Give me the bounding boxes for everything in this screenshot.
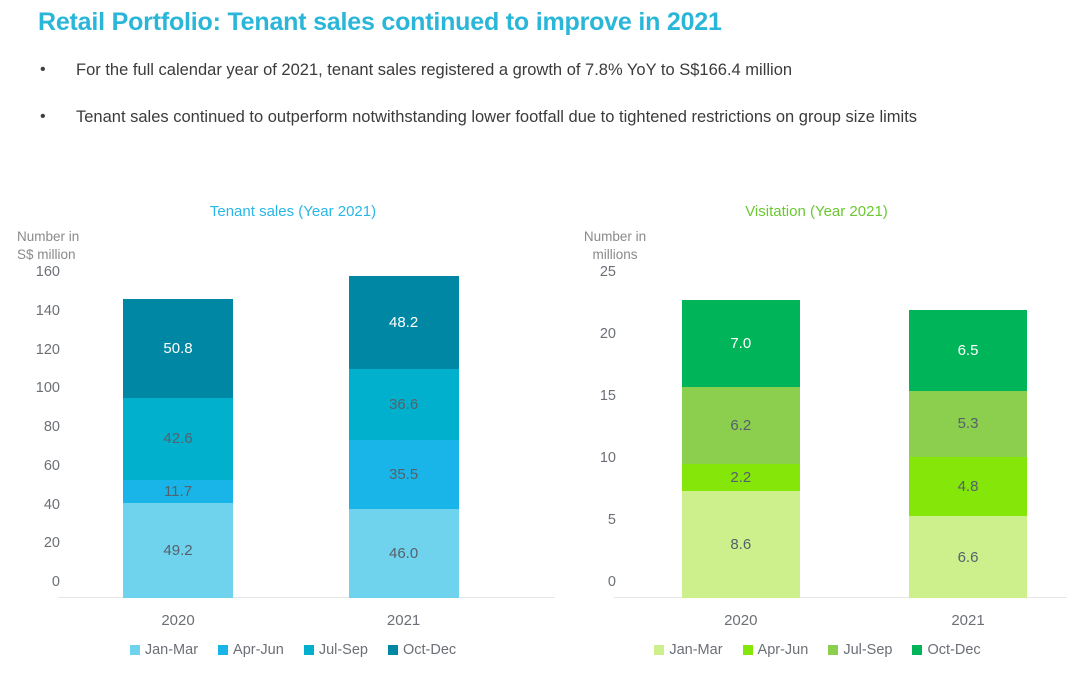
bar-value-label: 11.7 [164, 483, 192, 500]
bar-value-label: 6.6 [958, 549, 979, 566]
y-axis-tick-label: 20 [44, 535, 60, 551]
bar-value-label: 36.6 [389, 396, 418, 413]
x-axis-tick-label: 2021 [909, 612, 1027, 629]
y-axis-tick-label: 15 [600, 388, 616, 404]
bar-segment-jan-mar[interactable]: 46.0 [349, 509, 459, 598]
bar-segment-oct-dec[interactable]: 48.2 [349, 276, 459, 369]
y-axis-caption: Number in S$ million [17, 228, 79, 264]
y-axis-tick-label: 0 [52, 574, 60, 590]
bar-value-label: 4.8 [958, 478, 979, 495]
bar-segment-jan-mar[interactable]: 6.6 [909, 516, 1027, 598]
bar-value-label: 46.0 [389, 545, 418, 562]
legend-swatch-icon [304, 645, 314, 655]
bar-segment-jul-sep[interactable]: 36.6 [349, 369, 459, 440]
legend-swatch-icon [130, 645, 140, 655]
plot-area: 16014012010080604020049.211.742.650.8202… [70, 288, 550, 598]
y-axis-caption-line2: S$ million [17, 246, 79, 264]
bar-segment-apr-jun[interactable]: 11.7 [123, 480, 233, 503]
bar-value-label: 7.0 [730, 335, 751, 352]
y-axis-tick-label: 0 [608, 574, 616, 590]
bar-segment-apr-jun[interactable]: 35.5 [349, 440, 459, 509]
x-axis-tick-label: 2021 [349, 612, 459, 629]
plot-area: 25201510508.62.26.27.020206.64.85.36.520… [626, 288, 1067, 598]
legend-label: Jul-Sep [843, 642, 892, 658]
chart-title: Visitation (Year 2021) [556, 203, 1067, 220]
y-axis-tick-label: 120 [36, 342, 60, 358]
y-axis-tick-label: 40 [44, 497, 60, 513]
bar-group-2020[interactable]: 49.211.742.650.82020 [123, 299, 233, 598]
bullet-marker-icon: • [38, 105, 76, 129]
legend-label: Apr-Jun [758, 642, 809, 658]
legend-item-jan-mar[interactable]: Jan-Mar [130, 642, 198, 658]
bar-value-label: 2.2 [730, 469, 751, 486]
bar-group-2021[interactable]: 6.64.85.36.52021 [909, 310, 1027, 598]
y-axis-tick-label: 100 [36, 380, 60, 396]
bar-value-label: 6.5 [958, 342, 979, 359]
y-axis-tick-label: 20 [600, 326, 616, 342]
bullet-marker-icon: • [38, 58, 76, 82]
bar-segment-jul-sep[interactable]: 6.2 [682, 387, 800, 464]
y-axis-caption-line1: Number in [17, 228, 79, 246]
legend-item-jan-mar[interactable]: Jan-Mar [654, 642, 722, 658]
page-title: Retail Portfolio: Tenant sales continued… [38, 8, 722, 37]
chart-legend: Jan-MarApr-JunJul-SepOct-Dec [0, 642, 556, 658]
legend-label: Apr-Jun [233, 642, 284, 658]
bar-segment-oct-dec[interactable]: 6.5 [909, 310, 1027, 391]
bar-value-label: 5.3 [958, 415, 979, 432]
bar-value-label: 49.2 [163, 542, 192, 559]
legend-label: Oct-Dec [927, 642, 980, 658]
bar-value-label: 48.2 [389, 314, 418, 331]
y-axis-tick-label: 60 [44, 458, 60, 474]
x-axis-tick-label: 2020 [123, 612, 233, 629]
legend-swatch-icon [388, 645, 398, 655]
bar-value-label: 35.5 [389, 466, 418, 483]
legend-item-jul-sep[interactable]: Jul-Sep [828, 642, 892, 658]
y-axis-tick-label: 160 [36, 264, 60, 280]
bar-segment-jul-sep[interactable]: 5.3 [909, 391, 1027, 457]
legend-item-oct-dec[interactable]: Oct-Dec [388, 642, 456, 658]
bar-segment-apr-jun[interactable]: 4.8 [909, 457, 1027, 517]
legend-swatch-icon [218, 645, 228, 655]
legend-item-jul-sep[interactable]: Jul-Sep [304, 642, 368, 658]
charts-container: Tenant sales (Year 2021) Number in S$ mi… [0, 195, 1067, 675]
chart-title: Tenant sales (Year 2021) [0, 203, 556, 220]
bar-value-label: 6.2 [730, 417, 751, 434]
bar-group-2021[interactable]: 46.035.536.648.22021 [349, 276, 459, 598]
legend-label: Jan-Mar [145, 642, 198, 658]
y-axis-tick-label: 5 [608, 512, 616, 528]
bar-segment-jan-mar[interactable]: 49.2 [123, 503, 233, 598]
bullet-text: For the full calendar year of 2021, tena… [76, 58, 792, 83]
y-axis-caption-line1: Number in [570, 228, 660, 246]
y-axis-tick-label: 140 [36, 303, 60, 319]
bar-segment-oct-dec[interactable]: 7.0 [682, 300, 800, 387]
legend-swatch-icon [743, 645, 753, 655]
legend-swatch-icon [828, 645, 838, 655]
bar-value-label: 42.6 [163, 430, 192, 447]
bullet-list: • For the full calendar year of 2021, te… [38, 58, 1038, 152]
y-axis-caption-line2: millions [570, 246, 660, 264]
bar-value-label: 50.8 [163, 340, 192, 357]
legend-item-oct-dec[interactable]: Oct-Dec [912, 642, 980, 658]
bullet-text: Tenant sales continued to outperform not… [76, 105, 917, 130]
legend-label: Jan-Mar [669, 642, 722, 658]
legend-item-apr-jun[interactable]: Apr-Jun [743, 642, 809, 658]
bar-group-2020[interactable]: 8.62.26.27.02020 [682, 300, 800, 598]
x-axis-tick-label: 2020 [682, 612, 800, 629]
y-axis-tick-label: 10 [600, 450, 616, 466]
list-item: • Tenant sales continued to outperform n… [38, 105, 1038, 130]
legend-item-apr-jun[interactable]: Apr-Jun [218, 642, 284, 658]
chart-tenant-sales: Tenant sales (Year 2021) Number in S$ mi… [0, 195, 556, 675]
bar-value-label: 8.6 [730, 536, 751, 553]
bar-segment-jan-mar[interactable]: 8.6 [682, 491, 800, 598]
chart-legend: Jan-MarApr-JunJul-SepOct-Dec [556, 642, 1067, 658]
legend-label: Jul-Sep [319, 642, 368, 658]
bar-segment-jul-sep[interactable]: 42.6 [123, 398, 233, 481]
bar-segment-oct-dec[interactable]: 50.8 [123, 299, 233, 397]
bar-segment-apr-jun[interactable]: 2.2 [682, 464, 800, 491]
legend-swatch-icon [912, 645, 922, 655]
list-item: • For the full calendar year of 2021, te… [38, 58, 1038, 83]
y-axis-tick-label: 25 [600, 264, 616, 280]
legend-swatch-icon [654, 645, 664, 655]
y-axis-caption: Number in millions [570, 228, 660, 264]
chart-visitation: Visitation (Year 2021) Number in million… [556, 195, 1067, 675]
y-axis-tick-label: 80 [44, 419, 60, 435]
legend-label: Oct-Dec [403, 642, 456, 658]
